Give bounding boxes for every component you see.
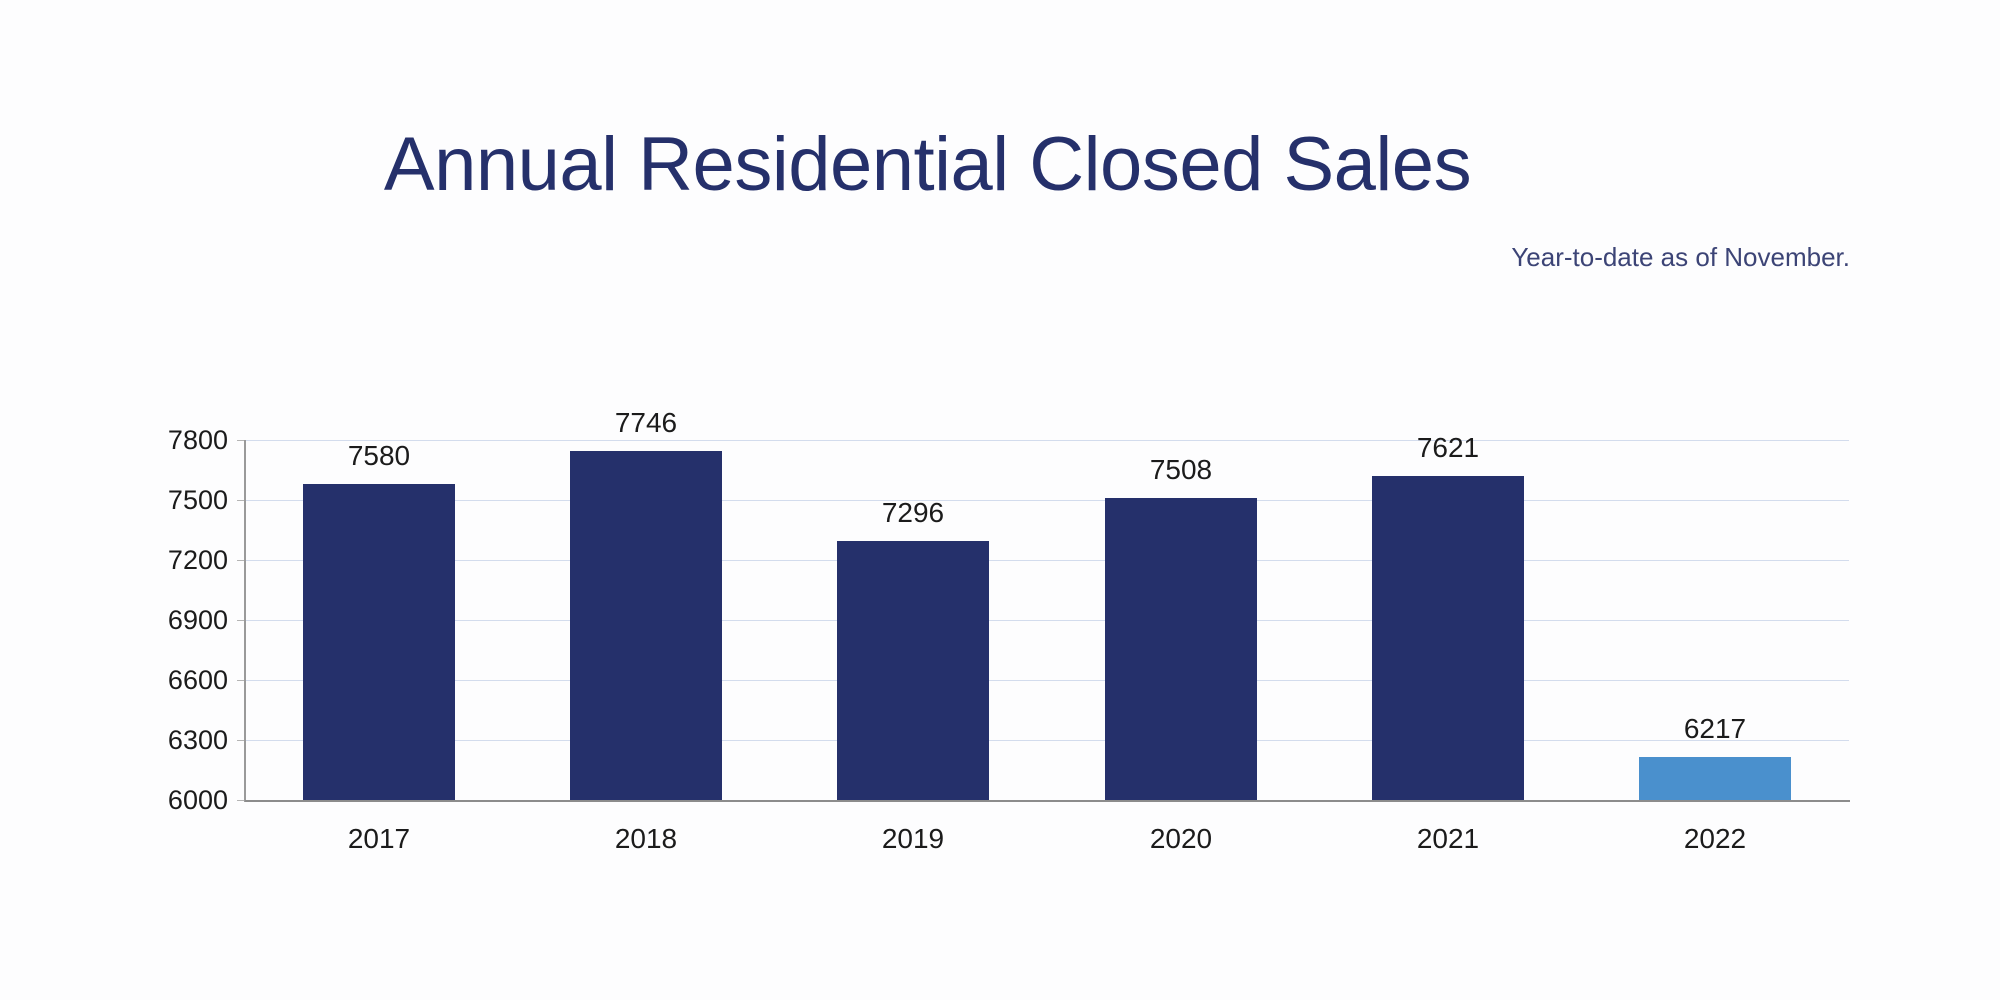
bar-value-label-2017: 7580: [263, 442, 495, 470]
x-axis-label-2019: 2019: [797, 822, 1029, 856]
y-axis-label: 7200: [108, 547, 228, 574]
x-axis-line: [245, 800, 1850, 802]
bar-chart: 6000630066006900720075007800 75807746729…: [0, 0, 2000, 1000]
x-axis-label-2020: 2020: [1065, 822, 1297, 856]
bar-2021[interactable]: [1372, 476, 1524, 800]
y-axis-label: 6900: [108, 607, 228, 634]
x-axis-label-2022: 2022: [1599, 822, 1831, 856]
bar-2017[interactable]: [303, 484, 455, 800]
y-axis-label: 7800: [108, 427, 228, 454]
y-axis-label: 6600: [108, 667, 228, 694]
plot-area: [245, 440, 1849, 800]
bar-value-label-2021: 7621: [1332, 434, 1564, 462]
bar-2019[interactable]: [837, 541, 989, 800]
x-axis-label-2021: 2021: [1332, 822, 1564, 856]
bar-2018[interactable]: [570, 451, 722, 800]
x-axis-label-2017: 2017: [263, 822, 495, 856]
bar-value-label-2019: 7296: [797, 499, 1029, 527]
x-axis-label-2018: 2018: [530, 822, 762, 856]
y-axis-label: 6000: [108, 787, 228, 814]
y-axis-label: 7500: [108, 487, 228, 514]
bar-value-label-2022: 6217: [1599, 715, 1831, 743]
y-axis-label: 6300: [108, 727, 228, 754]
bar-2022[interactable]: [1639, 757, 1791, 800]
bar-value-label-2020: 7508: [1065, 456, 1297, 484]
bar-2020[interactable]: [1105, 498, 1257, 800]
bar-value-label-2018: 7746: [530, 409, 762, 437]
